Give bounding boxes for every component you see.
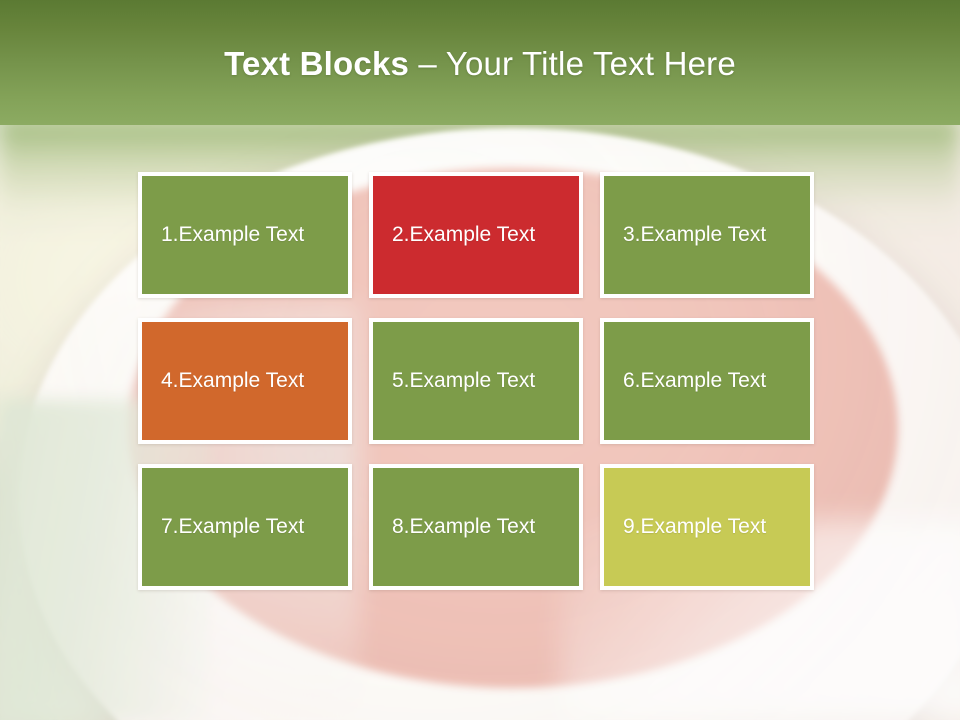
text-block-4-label: 4.Example Text bbox=[142, 368, 304, 393]
text-block-7-label: 7.Example Text bbox=[142, 514, 304, 539]
slide-header-bar: Text Blocks – Your Title Text Here bbox=[0, 0, 960, 125]
text-block-7[interactable]: 7.Example Text bbox=[138, 464, 352, 590]
text-block-8[interactable]: 8.Example Text bbox=[369, 464, 583, 590]
page-title: Text Blocks – Your Title Text Here bbox=[224, 46, 736, 82]
page-title-strong: Text Blocks bbox=[224, 45, 409, 82]
text-block-2-label: 2.Example Text bbox=[373, 222, 535, 247]
text-block-6[interactable]: 6.Example Text bbox=[600, 318, 814, 444]
text-block-1-label: 1.Example Text bbox=[142, 222, 304, 247]
text-block-5-label: 5.Example Text bbox=[373, 368, 535, 393]
text-block-6-label: 6.Example Text bbox=[604, 368, 766, 393]
text-block-9[interactable]: 9.Example Text bbox=[600, 464, 814, 590]
page-title-rest: – Your Title Text Here bbox=[409, 45, 736, 82]
text-blocks-grid: 1.Example Text 2.Example Text 3.Example … bbox=[138, 172, 814, 590]
text-block-4[interactable]: 4.Example Text bbox=[138, 318, 352, 444]
slide-canvas: Text Blocks – Your Title Text Here 1.Exa… bbox=[0, 0, 960, 720]
text-block-8-label: 8.Example Text bbox=[373, 514, 535, 539]
text-block-3[interactable]: 3.Example Text bbox=[600, 172, 814, 298]
text-block-2[interactable]: 2.Example Text bbox=[369, 172, 583, 298]
text-block-1[interactable]: 1.Example Text bbox=[138, 172, 352, 298]
text-block-9-label: 9.Example Text bbox=[604, 514, 766, 539]
text-block-5[interactable]: 5.Example Text bbox=[369, 318, 583, 444]
text-block-3-label: 3.Example Text bbox=[604, 222, 766, 247]
